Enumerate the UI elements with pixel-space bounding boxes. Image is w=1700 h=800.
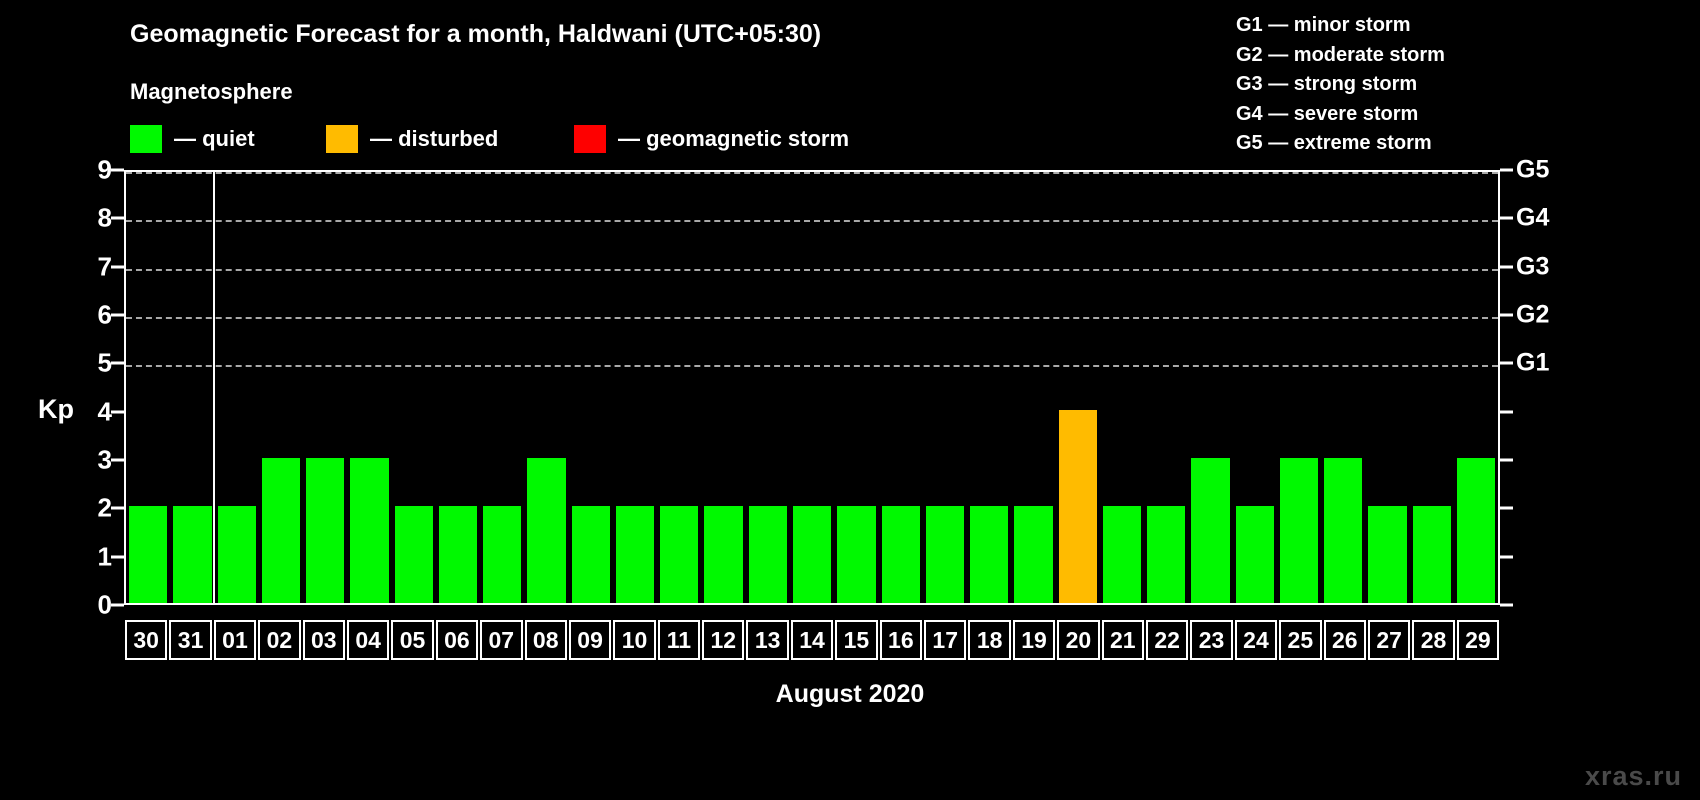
y-tick-mark-right-2 xyxy=(1500,507,1513,510)
legend-label-0: — quiet xyxy=(174,126,255,152)
y-tick-mark-left-0 xyxy=(111,604,124,607)
bar-31 xyxy=(173,506,211,603)
storm-scale-row-4: G4 — severe storm xyxy=(1236,100,1445,130)
bar-slot xyxy=(879,172,923,603)
bar-24 xyxy=(1236,506,1274,603)
y-tick-label-3: 3 xyxy=(72,445,112,476)
bar-slot xyxy=(215,172,259,603)
bar-slot xyxy=(967,172,1011,603)
storm-scale-row-3: G3 — strong storm xyxy=(1236,70,1445,100)
legend-swatch-0 xyxy=(130,125,162,153)
bar-25 xyxy=(1280,458,1318,603)
bar-slot xyxy=(701,172,745,603)
bar-slot xyxy=(834,172,878,603)
bar-11 xyxy=(660,506,698,603)
bar-16 xyxy=(882,506,920,603)
bar-slot xyxy=(657,172,701,603)
legend-label-1: — disturbed xyxy=(370,126,498,152)
date-label-30: 30 xyxy=(125,620,167,660)
date-label-13: 13 xyxy=(746,620,788,660)
bar-slot xyxy=(1454,172,1498,603)
bar-slot xyxy=(1011,172,1055,603)
bar-slot xyxy=(436,172,480,603)
bar-slot xyxy=(1188,172,1232,603)
y-tick-label-6: 6 xyxy=(72,300,112,331)
date-label-31: 31 xyxy=(169,620,211,660)
bar-28 xyxy=(1413,506,1451,603)
bar-slot xyxy=(347,172,391,603)
bar-slot xyxy=(1100,172,1144,603)
y-tick-label-1: 1 xyxy=(72,541,112,572)
bar-06 xyxy=(439,506,477,603)
bar-series xyxy=(126,172,1498,603)
bar-04 xyxy=(350,458,388,603)
y-tick-label-4: 4 xyxy=(72,396,112,427)
legend-label-2: — geomagnetic storm xyxy=(618,126,849,152)
bar-slot xyxy=(259,172,303,603)
bar-01 xyxy=(218,506,256,603)
bar-14 xyxy=(793,506,831,603)
y-tick-label-7: 7 xyxy=(72,251,112,282)
y-tick-mark-right-4 xyxy=(1500,410,1513,413)
date-label-17: 17 xyxy=(924,620,966,660)
y-tick-mark-right-9 xyxy=(1500,169,1513,172)
date-label-15: 15 xyxy=(835,620,877,660)
bar-13 xyxy=(749,506,787,603)
y-tick-mark-right-5 xyxy=(1500,362,1513,365)
y-tick-label-2: 2 xyxy=(72,493,112,524)
legend-swatch-1 xyxy=(326,125,358,153)
bar-23 xyxy=(1191,458,1229,603)
date-label-11: 11 xyxy=(658,620,700,660)
bar-15 xyxy=(837,506,875,603)
g-axis-label-G2: G2 xyxy=(1516,301,1549,330)
x-axis-title: August 2020 xyxy=(0,680,1700,709)
date-label-12: 12 xyxy=(702,620,744,660)
bar-slot xyxy=(613,172,657,603)
watermark: xras.ru xyxy=(1585,761,1682,792)
bar-02 xyxy=(262,458,300,603)
storm-scale-legend: G1 — minor stormG2 — moderate stormG3 — … xyxy=(1236,11,1445,159)
bar-slot xyxy=(1365,172,1409,603)
bar-slot xyxy=(790,172,834,603)
bar-slot xyxy=(392,172,436,603)
bar-slot xyxy=(1321,172,1365,603)
y-axis-title: Kp xyxy=(38,394,74,425)
date-label-18: 18 xyxy=(968,620,1010,660)
x-axis-date-labels: 3031010203040506070809101112131415161718… xyxy=(124,620,1500,660)
y-tick-mark-left-2 xyxy=(111,507,124,510)
bar-05 xyxy=(395,506,433,603)
bar-slot xyxy=(524,172,568,603)
y-tick-mark-right-1 xyxy=(1500,555,1513,558)
bar-21 xyxy=(1103,506,1141,603)
bar-03 xyxy=(306,458,344,603)
y-tick-mark-left-3 xyxy=(111,459,124,462)
date-label-25: 25 xyxy=(1279,620,1321,660)
date-label-16: 16 xyxy=(880,620,922,660)
storm-scale-row-1: G1 — minor storm xyxy=(1236,11,1445,41)
y-tick-mark-left-4 xyxy=(111,410,124,413)
bar-27 xyxy=(1368,506,1406,603)
legend-swatch-2 xyxy=(574,125,606,153)
bar-slot xyxy=(480,172,524,603)
date-label-24: 24 xyxy=(1235,620,1277,660)
date-label-14: 14 xyxy=(791,620,833,660)
bar-07 xyxy=(483,506,521,603)
y-tick-label-5: 5 xyxy=(72,348,112,379)
date-label-10: 10 xyxy=(613,620,655,660)
date-label-28: 28 xyxy=(1412,620,1454,660)
y-tick-mark-right-7 xyxy=(1500,265,1513,268)
bar-09 xyxy=(572,506,610,603)
date-label-22: 22 xyxy=(1146,620,1188,660)
g-axis-label-G1: G1 xyxy=(1516,349,1549,378)
y-tick-mark-right-3 xyxy=(1500,459,1513,462)
bar-10 xyxy=(616,506,654,603)
y-tick-mark-left-1 xyxy=(111,555,124,558)
y-tick-label-9: 9 xyxy=(72,155,112,186)
y-tick-mark-left-6 xyxy=(111,314,124,317)
date-label-29: 29 xyxy=(1457,620,1499,660)
date-label-09: 09 xyxy=(569,620,611,660)
storm-scale-row-5: G5 — extreme storm xyxy=(1236,129,1445,159)
y-tick-mark-left-9 xyxy=(111,169,124,172)
bar-26 xyxy=(1324,458,1362,603)
bar-slot xyxy=(1233,172,1277,603)
bar-slot xyxy=(126,172,170,603)
bar-30 xyxy=(129,506,167,603)
bar-19 xyxy=(1014,506,1052,603)
bar-slot xyxy=(1056,172,1100,603)
g-axis-label-G3: G3 xyxy=(1516,252,1549,281)
y-tick-mark-left-7 xyxy=(111,265,124,268)
bar-29 xyxy=(1457,458,1495,603)
date-label-04: 04 xyxy=(347,620,389,660)
bar-12 xyxy=(704,506,742,603)
bar-slot xyxy=(923,172,967,603)
bar-slot xyxy=(303,172,347,603)
date-label-03: 03 xyxy=(303,620,345,660)
date-label-06: 06 xyxy=(436,620,478,660)
date-label-02: 02 xyxy=(258,620,300,660)
date-label-21: 21 xyxy=(1102,620,1144,660)
bar-slot xyxy=(1410,172,1454,603)
bar-17 xyxy=(926,506,964,603)
storm-scale-row-2: G2 — moderate storm xyxy=(1236,41,1445,71)
date-label-23: 23 xyxy=(1190,620,1232,660)
date-label-01: 01 xyxy=(214,620,256,660)
y-tick-label-8: 8 xyxy=(72,203,112,234)
date-label-26: 26 xyxy=(1324,620,1366,660)
chart-canvas: Geomagnetic Forecast for a month, Haldwa… xyxy=(0,0,1700,800)
g-axis-label-G4: G4 xyxy=(1516,204,1549,233)
date-label-05: 05 xyxy=(391,620,433,660)
date-label-07: 07 xyxy=(480,620,522,660)
legend-item-2: — geomagnetic storm xyxy=(574,125,849,153)
bar-slot xyxy=(170,172,214,603)
bar-slot xyxy=(569,172,613,603)
g-axis-label-G5: G5 xyxy=(1516,156,1549,185)
y-tick-mark-right-6 xyxy=(1500,314,1513,317)
y-tick-mark-right-8 xyxy=(1500,217,1513,220)
bar-slot xyxy=(1144,172,1188,603)
plot-area xyxy=(124,170,1500,605)
legend-item-1: — disturbed xyxy=(326,125,498,153)
bar-22 xyxy=(1147,506,1185,603)
y-tick-mark-right-0 xyxy=(1500,604,1513,607)
bar-18 xyxy=(970,506,1008,603)
date-label-27: 27 xyxy=(1368,620,1410,660)
date-label-20: 20 xyxy=(1057,620,1099,660)
y-tick-label-0: 0 xyxy=(72,590,112,621)
bar-20 xyxy=(1059,410,1097,603)
date-label-19: 19 xyxy=(1013,620,1055,660)
magnetosphere-heading: Magnetosphere xyxy=(130,79,293,105)
bar-slot xyxy=(746,172,790,603)
legend-item-0: — quiet xyxy=(130,125,255,153)
y-tick-mark-left-5 xyxy=(111,362,124,365)
page-title: Geomagnetic Forecast for a month, Haldwa… xyxy=(130,20,821,49)
bar-slot xyxy=(1277,172,1321,603)
y-tick-mark-left-8 xyxy=(111,217,124,220)
date-label-08: 08 xyxy=(525,620,567,660)
bar-08 xyxy=(527,458,565,603)
